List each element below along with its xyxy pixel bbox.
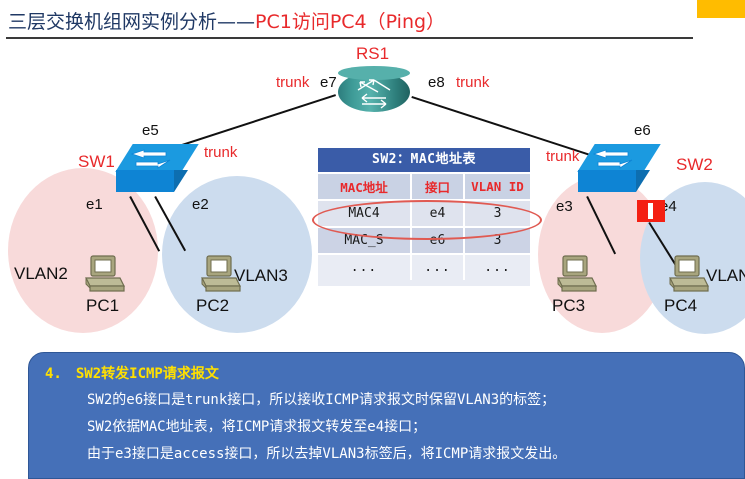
- cell-port: ...: [412, 255, 465, 280]
- router-trunk-right-label: trunk: [456, 74, 489, 91]
- host-pc4[interactable]: [664, 254, 710, 296]
- sw2-uplink-trunk-label: trunk: [546, 148, 579, 165]
- desktop-computer-icon: [552, 254, 598, 296]
- explanation-step-number: 4.: [45, 366, 62, 382]
- switch-arrows-icon: [588, 146, 648, 174]
- switch-sw2[interactable]: [578, 144, 656, 194]
- explanation-heading-text: SW2转发ICMP请求报文: [76, 366, 219, 382]
- corner-accent-block: [697, 0, 745, 18]
- cell-vlan: 3: [465, 228, 530, 253]
- cell-mac: MAC4: [318, 201, 412, 226]
- sw1-uplink-port-e5-label: e5: [142, 122, 159, 139]
- router-port-e7-label: e7: [320, 74, 337, 91]
- cell-vlan: ...: [465, 255, 530, 280]
- explanation-line-2: SW2依据MAC地址表，将ICMP请求报文转发至e4接口；: [87, 416, 426, 436]
- icmp-packet-icon: [637, 200, 665, 222]
- router-rs1[interactable]: [338, 66, 410, 118]
- sw1-port-e2-label: e2: [192, 196, 209, 213]
- mac-table-footer: [318, 280, 530, 286]
- sw2-uplink-port-e6-label: e6: [634, 122, 651, 139]
- cell-port: e6: [412, 228, 465, 253]
- explanation-line-1: SW2的e6接口是trunk接口，所以接收ICMP请求报文时保留VLAN3的标签…: [87, 389, 555, 409]
- router-label-rs1: RS1: [356, 44, 389, 64]
- sw1-uplink-trunk-label: trunk: [204, 144, 237, 161]
- page-title: 三层交换机组网实例分析——PC1访问PC4（Ping）: [8, 7, 445, 34]
- host-pc1[interactable]: [80, 254, 126, 296]
- explanation-panel: 4.SW2转发ICMP请求报文 SW2的e6接口是trunk接口，所以接收ICM…: [28, 352, 745, 479]
- sw2-port-e3-label: e3: [556, 198, 573, 215]
- host-pc4-label: PC4: [664, 296, 697, 316]
- host-pc3[interactable]: [552, 254, 598, 296]
- switch-sw1[interactable]: [116, 144, 194, 194]
- cell-port: e4: [412, 201, 465, 226]
- page-title-main: 三层交换机组网实例分析——: [8, 11, 255, 33]
- mac-table-title: SW2：MAC地址表: [318, 148, 530, 172]
- host-pc1-label: PC1: [86, 296, 119, 316]
- title-divider: [6, 37, 693, 39]
- table-row: MAC4 e4 3: [318, 201, 530, 226]
- mac-table-header-row: MAC地址 接口 VLAN ID: [318, 174, 530, 199]
- desktop-computer-icon: [80, 254, 126, 296]
- mac-address-table: SW2：MAC地址表 MAC地址 接口 VLAN ID MAC4 e4 3 MA…: [318, 148, 530, 286]
- cell-mac: MAC_S: [318, 228, 412, 253]
- mac-table-col-port: 接口: [412, 174, 465, 199]
- sw1-port-e1-label: e1: [86, 196, 103, 213]
- vlan3-label-left: VLAN3: [234, 266, 288, 286]
- router-port-e8-label: e8: [428, 74, 445, 91]
- switch-arrows-icon: [126, 146, 186, 174]
- vlan3-label-right: VLAN3: [706, 266, 745, 286]
- page-title-highlight: PC1访问PC4（Ping）: [255, 11, 445, 33]
- slide-canvas: 三层交换机组网实例分析——PC1访问PC4（Ping） RS1 trunk e7…: [0, 0, 745, 479]
- vlan2-label-left: VLAN2: [14, 264, 68, 284]
- explanation-line-3: 由于e3接口是access接口，所以去掉VLAN3标签后，将ICMP请求报文发出…: [87, 443, 566, 463]
- desktop-computer-icon: [664, 254, 710, 296]
- cell-mac: ...: [318, 255, 412, 280]
- cell-vlan: 3: [465, 201, 530, 226]
- switch-sw1-label: SW1: [78, 152, 115, 172]
- explanation-heading: 4.SW2转发ICMP请求报文: [45, 363, 219, 383]
- mac-table-col-mac: MAC地址: [318, 174, 412, 199]
- table-row: MAC_S e6 3: [318, 228, 530, 253]
- host-pc2-label: PC2: [196, 296, 229, 316]
- mac-table-col-vlan: VLAN ID: [465, 174, 530, 199]
- host-pc3-label: PC3: [552, 296, 585, 316]
- router-arrows-icon: [338, 68, 410, 118]
- switch-sw2-label: SW2: [676, 155, 713, 175]
- router-trunk-left-label: trunk: [276, 74, 309, 91]
- table-row: ... ... ...: [318, 255, 530, 280]
